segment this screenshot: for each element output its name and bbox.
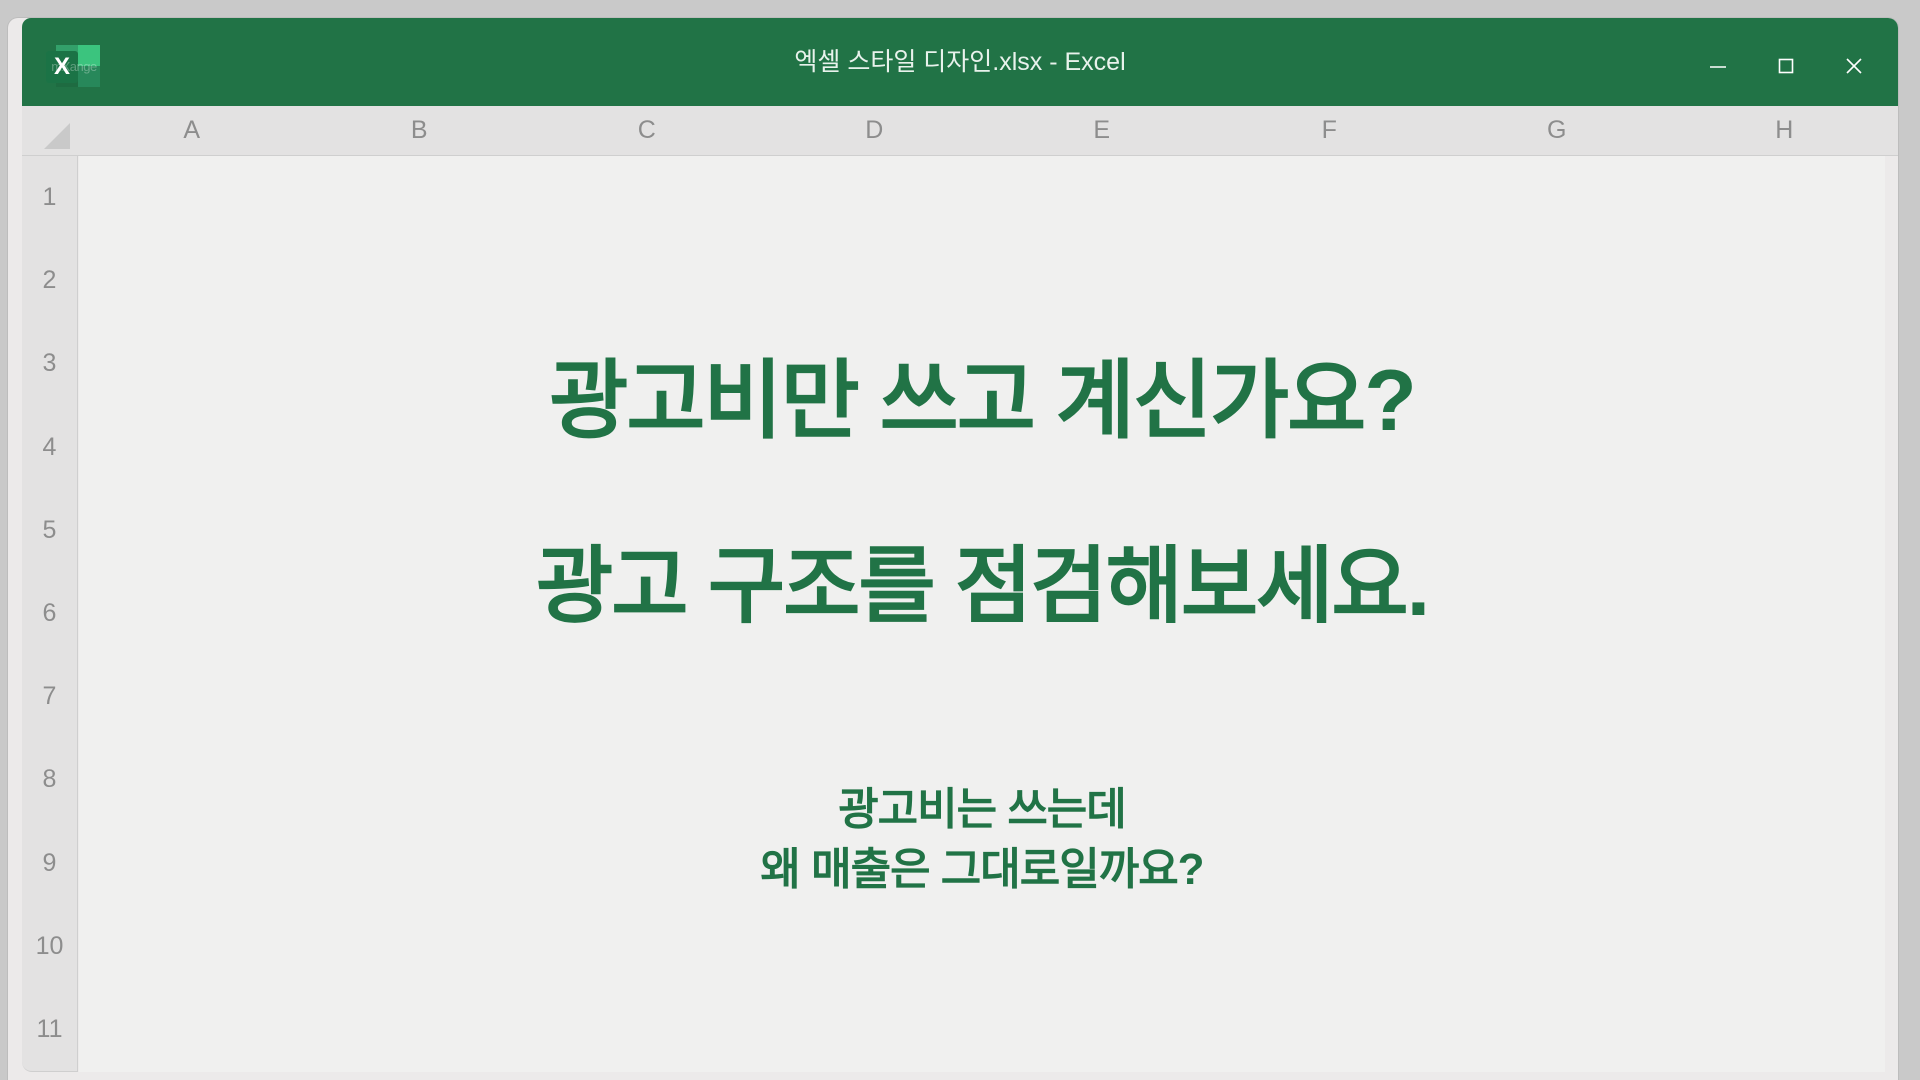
column-header-h[interactable]: H bbox=[1671, 106, 1899, 155]
spreadsheet-body: 1 2 3 4 5 6 7 8 9 10 11 광고비만 쓰고 계신가요? 광고… bbox=[22, 156, 1898, 1080]
row-header-8[interactable]: 8 bbox=[22, 738, 77, 821]
column-header-c[interactable]: C bbox=[533, 106, 761, 155]
row-header-4[interactable]: 4 bbox=[22, 406, 77, 489]
column-header-b[interactable]: B bbox=[306, 106, 534, 155]
subtext-line-1: 광고비는 쓰는데 bbox=[760, 780, 1203, 839]
subtext-line-2: 왜 매출은 그대로일까요? bbox=[760, 840, 1203, 899]
row-header-9[interactable]: 9 bbox=[22, 822, 77, 905]
row-header-11[interactable]: 11 bbox=[22, 988, 77, 1071]
column-header-a[interactable]: A bbox=[78, 106, 306, 155]
window-title: 엑셀 스타일 디자인.xlsx - Excel bbox=[22, 18, 1898, 106]
row-header-3[interactable]: 3 bbox=[22, 322, 77, 405]
column-header-f[interactable]: F bbox=[1216, 106, 1444, 155]
column-header-g[interactable]: G bbox=[1443, 106, 1671, 155]
subtext-block: 광고비는 쓰는데 왜 매출은 그대로일까요? bbox=[760, 780, 1203, 899]
slide-content: 광고비만 쓰고 계신가요? 광고 구조를 점검해보세요. 광고비는 쓰는데 왜 … bbox=[79, 156, 1885, 1072]
column-header-d[interactable]: D bbox=[761, 106, 989, 155]
minimize-button[interactable] bbox=[1698, 46, 1738, 86]
maximize-button[interactable] bbox=[1766, 46, 1806, 86]
row-header-6[interactable]: 6 bbox=[22, 572, 77, 655]
column-header-row: A B C D E F G H bbox=[22, 106, 1898, 156]
excel-window: X mXange 엑셀 스타일 디자인.xlsx - Excel bbox=[8, 18, 1898, 1080]
headline-secondary: 광고 구조를 점검해보세요. bbox=[536, 542, 1428, 630]
row-header-5[interactable]: 5 bbox=[22, 489, 77, 572]
row-header-2[interactable]: 2 bbox=[22, 239, 77, 322]
select-all-corner[interactable] bbox=[22, 106, 78, 155]
column-header-cells: A B C D E F G H bbox=[78, 106, 1898, 155]
row-header-column: 1 2 3 4 5 6 7 8 9 10 11 bbox=[22, 156, 78, 1072]
row-header-7[interactable]: 7 bbox=[22, 655, 77, 738]
row-header-1[interactable]: 1 bbox=[22, 156, 77, 239]
select-all-triangle-icon bbox=[44, 123, 70, 149]
headline-primary: 광고비만 쓰고 계신가요? bbox=[549, 356, 1415, 446]
window-titlebar[interactable]: X mXange 엑셀 스타일 디자인.xlsx - Excel bbox=[22, 18, 1898, 106]
desktop-background: X mXange 엑셀 스타일 디자인.xlsx - Excel bbox=[0, 0, 1920, 1080]
cell-grid-area[interactable]: 광고비만 쓰고 계신가요? 광고 구조를 점검해보세요. 광고비는 쓰는데 왜 … bbox=[79, 156, 1885, 1072]
close-button[interactable] bbox=[1834, 46, 1874, 86]
column-header-e[interactable]: E bbox=[988, 106, 1216, 155]
row-header-10[interactable]: 10 bbox=[22, 905, 77, 988]
